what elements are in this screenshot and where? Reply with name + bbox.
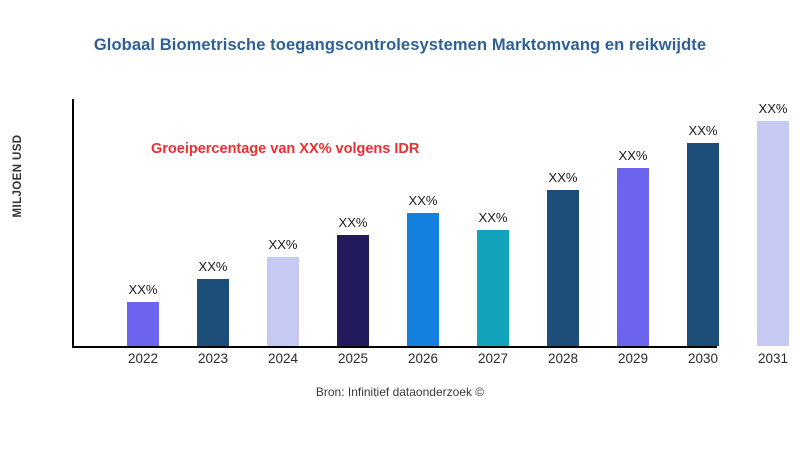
bar[interactable]: XX%	[477, 230, 509, 346]
x-tick-label-2028: 2028	[528, 351, 598, 366]
bar-value-label: XX%	[759, 101, 788, 116]
x-tick-label-2023: 2023	[178, 351, 248, 366]
x-tick-label-2024: 2024	[248, 351, 318, 366]
page-title: Globaal Biometrische toegangscontrolesys…	[0, 36, 800, 55]
bar[interactable]: XX%	[757, 121, 789, 346]
chart-page: Globaal Biometrische toegangscontrolesys…	[0, 0, 800, 450]
bar[interactable]: XX%	[687, 143, 719, 346]
bar[interactable]: XX%	[617, 168, 649, 346]
bar[interactable]: XX%	[407, 213, 439, 346]
bar-group-2026: XX%	[388, 99, 458, 346]
y-axis-line	[72, 99, 74, 348]
growth-annotation: Groeipercentage van XX% volgens IDR	[151, 141, 419, 157]
source-note: Bron: Infinitief dataonderzoek ©	[0, 385, 800, 399]
bar[interactable]: XX%	[127, 302, 159, 346]
bar-group-2029: XX%	[598, 99, 668, 346]
x-tick-label-2030: 2030	[668, 351, 738, 366]
plot-area: XX%2022XX%2023XX%2024XX%2025XX%2026XX%20…	[72, 99, 784, 348]
bar-value-label: XX%	[479, 210, 508, 225]
x-tick-label-2022: 2022	[108, 351, 178, 366]
bar-value-label: XX%	[689, 123, 718, 138]
bar-value-label: XX%	[409, 193, 438, 208]
y-axis-label: MILJOEN USD	[12, 96, 24, 256]
x-tick-label-2029: 2029	[598, 351, 668, 366]
bar-group-2022: XX%	[108, 99, 178, 346]
bar-group-2023: XX%	[178, 99, 248, 346]
x-tick-label-2027: 2027	[458, 351, 528, 366]
bar[interactable]: XX%	[337, 235, 369, 346]
bar-group-2027: XX%	[458, 99, 528, 346]
x-tick-label-2026: 2026	[388, 351, 458, 366]
bar-value-label: XX%	[549, 170, 578, 185]
x-tick-label-2025: 2025	[318, 351, 388, 366]
bar[interactable]: XX%	[197, 279, 229, 346]
bar-value-label: XX%	[269, 237, 298, 252]
bar[interactable]: XX%	[267, 257, 299, 346]
bar-value-label: XX%	[339, 215, 368, 230]
x-axis-line	[72, 346, 717, 348]
bar-group-2028: XX%	[528, 99, 598, 346]
bar-group-2025: XX%	[318, 99, 388, 346]
bar-group-2030: XX%	[668, 99, 738, 346]
x-tick-label-2031: 2031	[738, 351, 800, 366]
bar-value-label: XX%	[129, 282, 158, 297]
bar-value-label: XX%	[619, 148, 648, 163]
bar-value-label: XX%	[199, 259, 228, 274]
bar-group-2024: XX%	[248, 99, 318, 346]
bar-group-2031: XX%	[738, 99, 800, 346]
bar[interactable]: XX%	[547, 190, 579, 346]
